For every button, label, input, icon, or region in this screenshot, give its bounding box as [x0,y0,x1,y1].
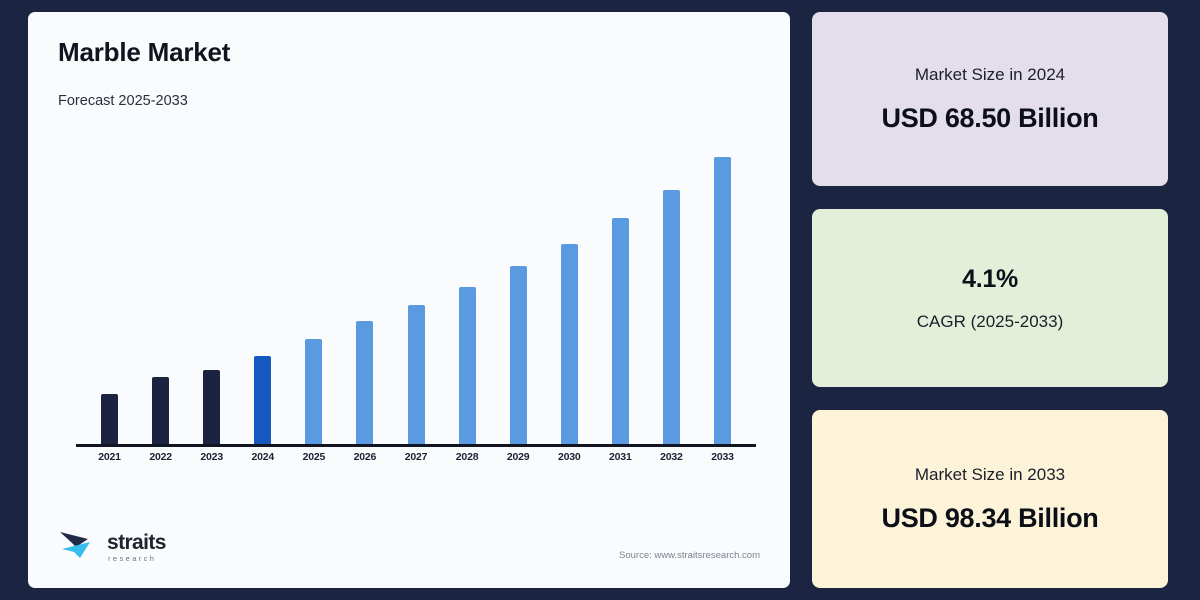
x-axis-label-2025: 2025 [288,451,339,463]
infographic-layout: Marble Market Forecast 2025-2033 2021202… [0,0,1200,600]
x-axis-label-2033: 2033 [697,451,748,463]
x-axis-label-2022: 2022 [135,451,186,463]
x-axis-label-2028: 2028 [442,451,493,463]
x-axis-label-2023: 2023 [186,451,237,463]
bar-2029 [510,266,527,447]
bar-slot [493,147,544,447]
chart-plot-area: 2021202220232024202520262027202820292030… [58,119,760,570]
bar-slot [288,147,339,447]
x-axis-label-2024: 2024 [237,451,288,463]
bar-slot [84,147,135,447]
bar-group [76,147,756,447]
bar-slot [186,147,237,447]
stat-label: Market Size in 2033 [915,465,1065,485]
bar-2024 [254,356,271,447]
logo-text: straits research [107,532,166,563]
bar-slot [339,147,390,447]
straits-arrow-logo-icon [58,528,100,566]
x-axis-tick-labels: 2021202220232024202520262027202820292030… [76,451,756,463]
bar-2032 [663,190,680,447]
x-axis-label-2029: 2029 [493,451,544,463]
stat-label: Market Size in 2024 [915,65,1065,85]
bar-2023 [203,370,220,447]
stat-card-market-size-2033: Market Size in 2033 USD 98.34 Billion [812,410,1168,588]
bar-2027 [408,305,425,447]
straits-research-logo: straits research [58,528,166,566]
bar-slot [544,147,595,447]
bar-2028 [459,287,476,447]
bar-slot [237,147,288,447]
stat-card-column: Market Size in 2024 USD 68.50 Billion 4.… [812,12,1168,588]
bar-2022 [152,377,169,447]
stat-label: CAGR (2025-2033) [917,312,1063,332]
bar-slot [390,147,441,447]
stat-card-market-size-2024: Market Size in 2024 USD 68.50 Billion [812,12,1168,186]
x-axis-label-2032: 2032 [646,451,697,463]
bar-2030 [561,244,578,447]
bar-2021 [101,394,118,447]
bar-slot [646,147,697,447]
stat-value: 4.1% [962,265,1018,294]
bar-chart [76,133,756,447]
x-axis-label-2030: 2030 [544,451,595,463]
chart-footer: straits research Source: www.straitsrese… [58,528,760,566]
logo-wordmark: straits [107,532,166,553]
stat-value: USD 98.34 Billion [882,503,1099,534]
stat-value: USD 68.50 Billion [882,103,1099,134]
x-axis-label-2021: 2021 [84,451,135,463]
x-axis-label-2026: 2026 [339,451,390,463]
x-axis-label-2031: 2031 [595,451,646,463]
x-axis-line [76,444,756,447]
source-attribution: Source: www.straitsresearch.com [619,550,760,566]
bar-slot [442,147,493,447]
bar-slot [697,147,748,447]
bar-slot [595,147,646,447]
bar-2031 [612,218,629,447]
logo-tagline: research [108,555,166,563]
chart-subtitle: Forecast 2025-2033 [58,93,760,109]
bar-2033 [714,157,731,447]
page-title: Marble Market [58,38,760,67]
bar-2026 [356,321,373,447]
stat-card-cagr: 4.1% CAGR (2025-2033) [812,209,1168,387]
bar-2025 [305,339,322,447]
bar-slot [135,147,186,447]
x-axis-label-2027: 2027 [390,451,441,463]
chart-card: Marble Market Forecast 2025-2033 2021202… [28,12,790,588]
